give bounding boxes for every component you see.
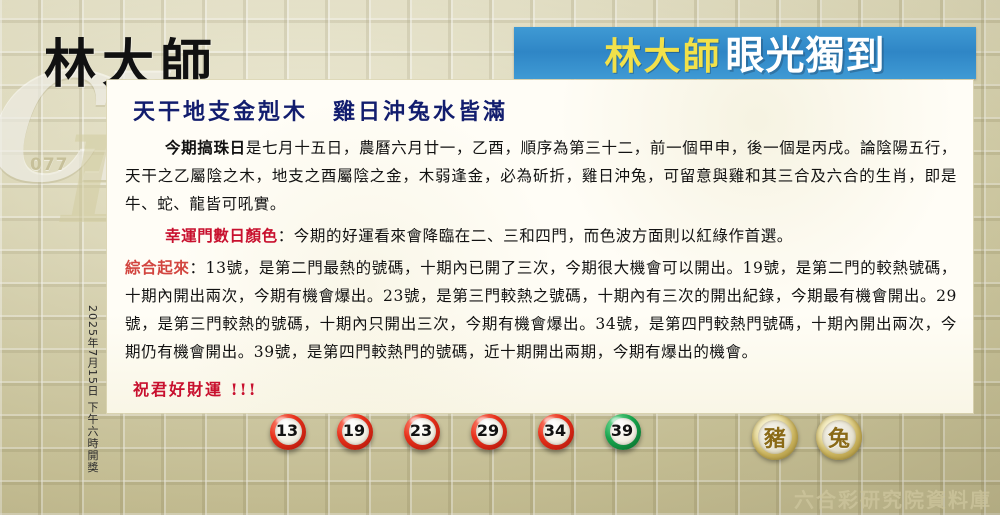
paragraph-number-summary: 綜合起來：13號，是第二門最熱的號碼，十期內已開了三次，今期很大機會可以開出。1… (125, 254, 957, 366)
lottery-numbers-row: 13 19 23 29 34 39 (270, 414, 641, 450)
paragraph-3-lead: 綜合起來 (125, 258, 190, 277)
paragraph-forecast-analysis: 今期搞珠日是七月十五日，農曆六月廿一，乙酉，順序為第三十二，前一個甲申，後一個是… (125, 134, 957, 218)
zodiac-label: 豬 (764, 421, 786, 453)
poster-root: CL L 077 六合彩研究院資料庫 林大師 林大師 眼光獨到 天干地支金剋木 … (0, 0, 1000, 515)
ball-number: 19 (343, 423, 365, 439)
paragraph-2-text: ：今期的好運看來會降臨在二、三和四門，而色波方面則以紅綠作首選。 (278, 227, 793, 245)
lottery-ball: 34 (538, 414, 574, 450)
paragraph-lucky-gate-color: 幸運門數日顏色：今期的好運看來會降臨在二、三和四門，而色波方面則以紅綠作首選。 (125, 222, 957, 250)
ball-number: 23 (410, 423, 432, 439)
zodiac-medallion-rabbit: 兔 (816, 414, 862, 460)
banner-slogan-text: 眼光獨到 (725, 25, 885, 81)
paragraph-2-lead: 幸運門數日顏色 (165, 226, 278, 245)
watermark-number: 077 (30, 155, 69, 175)
zodiac-label: 兔 (828, 421, 850, 453)
lottery-ball: 29 (471, 414, 507, 450)
content-sheet: 天干地支金剋木 雞日沖兔水皆滿 今期搞珠日是七月十五日，農曆六月廿一，乙酉，順序… (107, 80, 973, 413)
lottery-ball: 19 (337, 414, 373, 450)
zodiac-medallions: 豬 兔 (752, 414, 862, 460)
paragraph-1-lead: 今期搞珠日 (165, 138, 246, 157)
bottom-watermark: 六合彩研究院資料庫 (794, 484, 992, 513)
ball-number: 34 (544, 423, 566, 439)
header-banner: 林大師 眼光獨到 (514, 27, 976, 79)
page-title: 天干地支金剋木 雞日沖兔水皆滿 (133, 94, 957, 126)
lottery-ball: 23 (404, 414, 440, 450)
closing-wish: 祝君好財運 !!! (133, 376, 957, 400)
ball-number: 29 (477, 423, 499, 439)
draw-date-strip: 2025年7月15日 下午六時開獎 (84, 305, 100, 474)
lottery-ball: 13 (270, 414, 306, 450)
ball-number: 39 (611, 423, 633, 439)
paragraph-1-text: 是七月十五日，農曆六月廿一，乙酉，順序為第三十二，前一個甲申，後一個是丙戌。論陰… (125, 139, 957, 213)
paragraph-3-text: ：13號，是第二門最熱的號碼，十期內已開了三次，今期很大機會可以開出。19號，是… (125, 259, 957, 361)
banner-brand-text: 林大師 (604, 26, 721, 80)
ball-number: 13 (276, 423, 298, 439)
zodiac-medallion-pig: 豬 (752, 414, 798, 460)
lottery-ball: 39 (605, 414, 641, 450)
